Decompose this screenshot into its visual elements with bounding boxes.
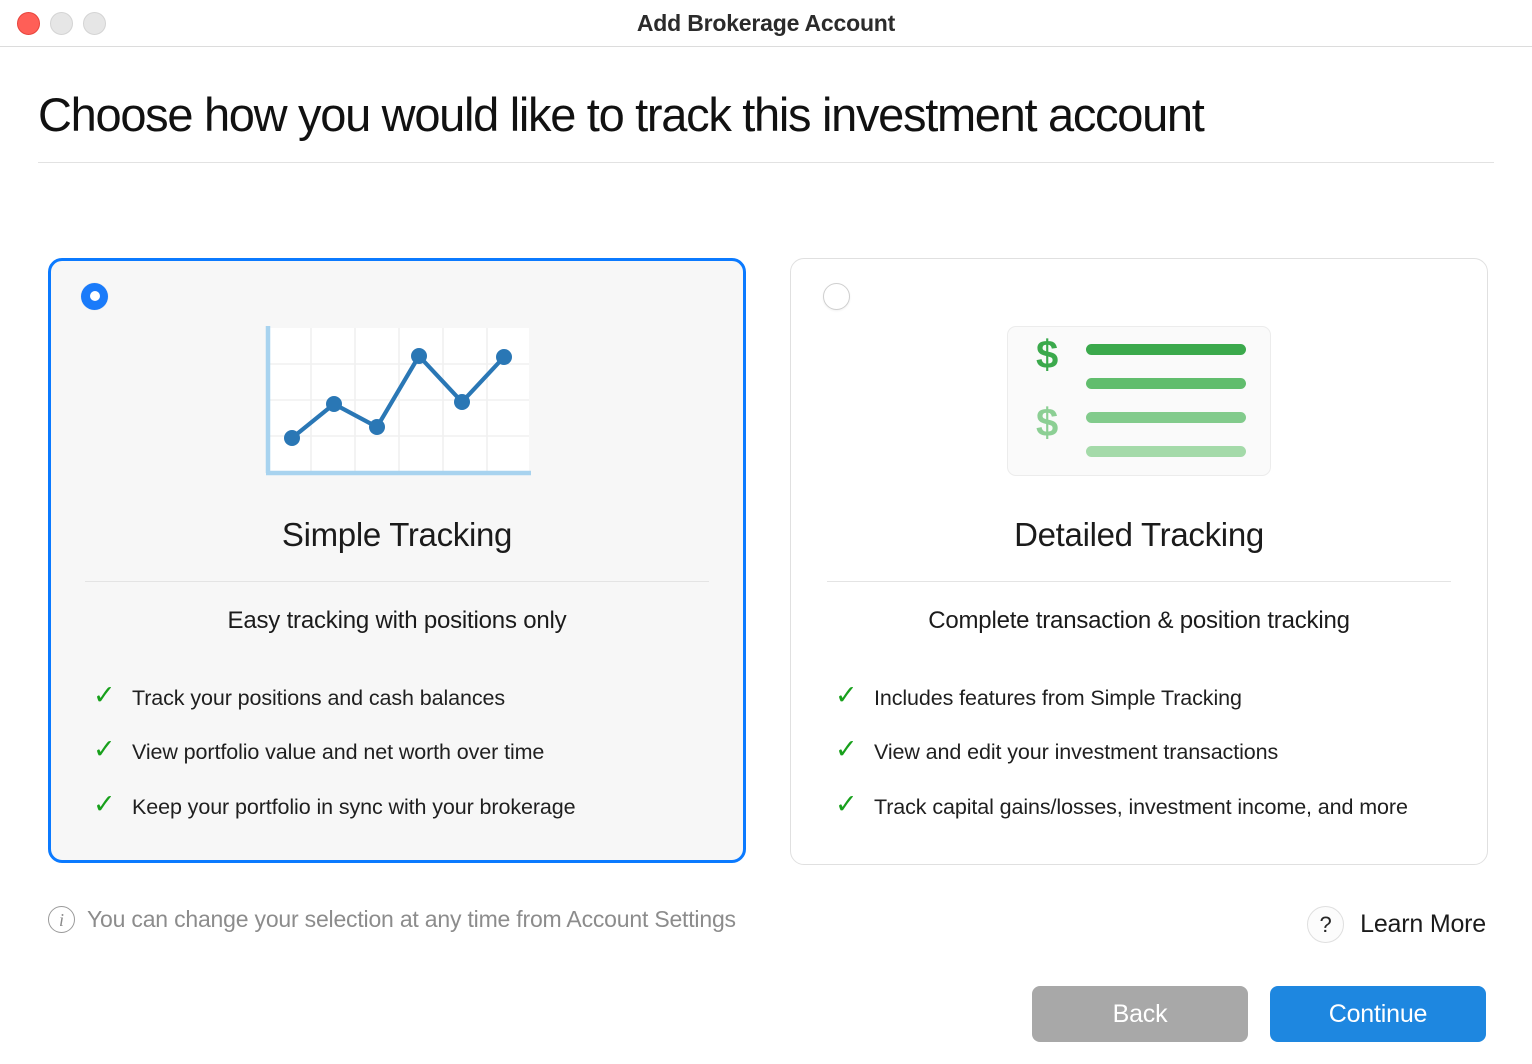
minimize-button[interactable] — [50, 12, 73, 35]
ledger-bar — [1086, 378, 1246, 389]
radio-dot-icon — [90, 291, 100, 301]
heading-section: Choose how you would like to track this … — [0, 47, 1532, 163]
ledger-bar — [1086, 412, 1246, 423]
check-icon: ✓ — [93, 737, 115, 763]
detailed-tracking-illustration: $ $ — [819, 326, 1459, 478]
ledger-bar-wrap — [1086, 378, 1246, 389]
learn-more-link[interactable]: ? Learn More — [1307, 906, 1486, 943]
tracking-options-group: Simple Tracking Easy tracking with posit… — [0, 163, 1532, 865]
money-ledger-icon: $ $ — [1007, 326, 1271, 476]
info-circle-icon: i — [48, 906, 75, 933]
question-circle-icon[interactable]: ? — [1307, 906, 1344, 943]
check-icon: ✓ — [835, 683, 857, 709]
selection-note: i You can change your selection at any t… — [48, 906, 736, 933]
feature-list-detailed: ✓ Includes features from Simple Tracking… — [819, 683, 1459, 824]
continue-button[interactable]: Continue — [1270, 986, 1486, 1042]
card-simple-tracking[interactable]: Simple Tracking Easy tracking with posit… — [48, 258, 746, 863]
list-item: ✓ Includes features from Simple Tracking — [835, 683, 1459, 715]
ledger-row — [1032, 367, 1246, 401]
card-subtitle-simple: Easy tracking with positions only — [77, 607, 717, 635]
ledger-row: $ — [1032, 333, 1246, 367]
ledger-bar — [1086, 344, 1246, 355]
learn-more-label: Learn More — [1360, 910, 1486, 939]
simple-tracking-illustration — [77, 326, 717, 478]
back-button[interactable]: Back — [1032, 986, 1248, 1042]
list-item: ✓ Track capital gains/losses, investment… — [835, 792, 1459, 824]
feature-label: View portfolio value and net worth over … — [132, 737, 544, 769]
maximize-button[interactable] — [83, 12, 106, 35]
page-title: Choose how you would like to track this … — [38, 89, 1494, 142]
card-subtitle-detailed: Complete transaction & position tracking — [819, 607, 1459, 635]
check-icon: ✓ — [93, 683, 115, 709]
selection-note-label: You can change your selection at any tim… — [87, 906, 736, 933]
ledger-row — [1032, 435, 1246, 469]
feature-label: Includes features from Simple Tracking — [874, 683, 1242, 715]
title-bar: Add Brokerage Account — [0, 0, 1532, 47]
close-button[interactable] — [17, 12, 40, 35]
card-divider-simple — [85, 581, 709, 582]
add-brokerage-account-window: Add Brokerage Account Choose how you wou… — [0, 0, 1532, 1064]
list-item: ✓ Keep your portfolio in sync with your … — [93, 792, 717, 824]
check-icon: ✓ — [835, 737, 857, 763]
feature-label: Track capital gains/losses, investment i… — [874, 792, 1408, 824]
check-icon: ✓ — [835, 792, 857, 818]
line-chart-icon — [263, 326, 531, 476]
ledger-bar-wrap — [1086, 412, 1246, 423]
dialog-button-row: Back Continue — [1032, 986, 1486, 1042]
ledger-bar-wrap — [1086, 344, 1246, 355]
ledger-bar — [1086, 446, 1246, 457]
list-item: ✓ View and edit your investment transact… — [835, 737, 1459, 769]
radio-simple-tracking[interactable] — [81, 283, 108, 310]
ledger-row: $ — [1032, 401, 1246, 435]
card-divider-detailed — [827, 581, 1451, 582]
radio-detailed-tracking[interactable] — [823, 283, 850, 310]
list-item: ✓ Track your positions and cash balances — [93, 683, 717, 715]
window-title: Add Brokerage Account — [0, 0, 1532, 46]
list-item: ✓ View portfolio value and net worth ove… — [93, 737, 717, 769]
card-title-simple: Simple Tracking — [77, 516, 717, 554]
feature-list-simple: ✓ Track your positions and cash balances… — [77, 683, 717, 824]
traffic-light-group — [0, 12, 106, 35]
feature-label: View and edit your investment transactio… — [874, 737, 1278, 769]
check-icon: ✓ — [93, 792, 115, 818]
feature-label: Track your positions and cash balances — [132, 683, 505, 715]
card-detailed-tracking[interactable]: $ $ — [790, 258, 1488, 865]
feature-label: Keep your portfolio in sync with your br… — [132, 792, 575, 824]
card-title-detailed: Detailed Tracking — [819, 516, 1459, 554]
ledger-bar-wrap — [1086, 446, 1246, 457]
